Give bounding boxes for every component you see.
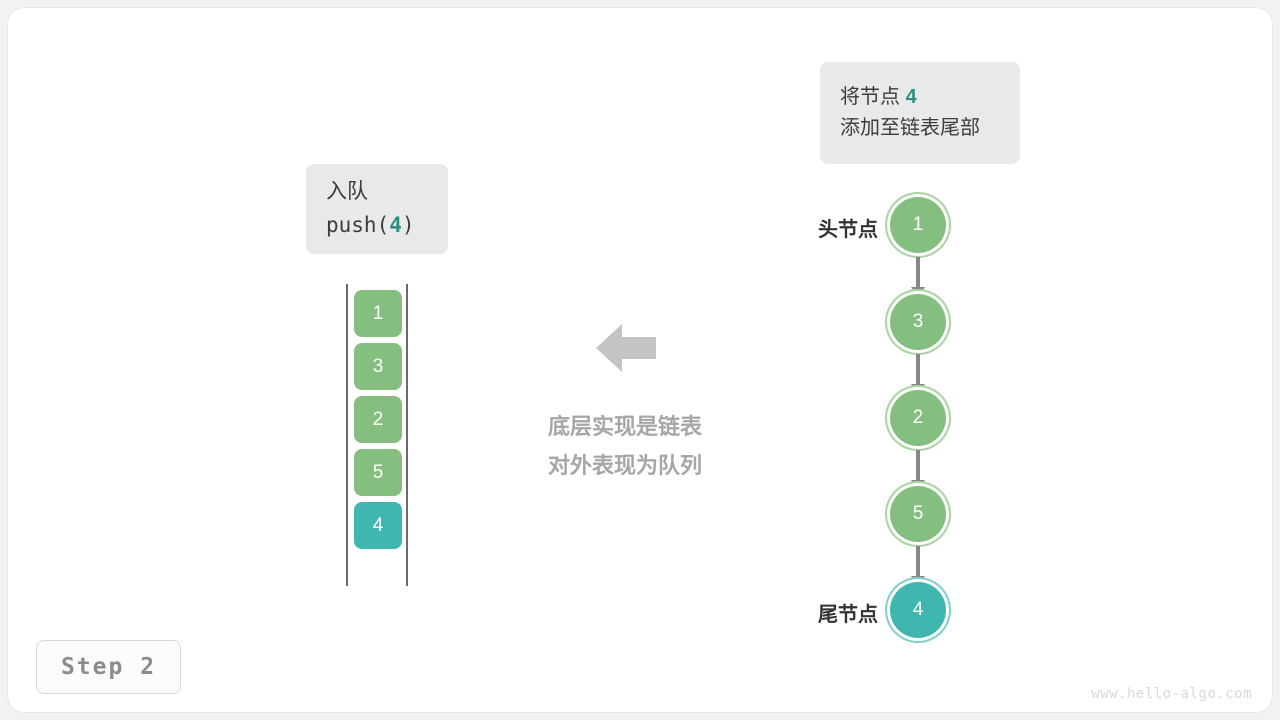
tail-node-label: 尾节点 (778, 598, 878, 627)
list-node: 5 (890, 486, 946, 542)
node-connector-line (916, 257, 920, 291)
diagram-canvas: 入队 push(4) 将节点 4 添加至链表尾部 1 3 2 5 4 底层实现是… (0, 0, 1280, 720)
list-node: 1 (890, 197, 946, 253)
queue-cell: 3 (354, 343, 402, 390)
step-badge: Step 2 (36, 640, 181, 694)
tail-callout-value: 4 (906, 86, 917, 108)
tail-callout-line2: 添加至链表尾部 (840, 113, 1000, 144)
list-node-new: 4 (890, 582, 946, 638)
node-connector-line (916, 354, 920, 388)
watermark: www.hello-algo.com (1091, 686, 1252, 702)
push-callout-line1: 入队 (326, 176, 428, 209)
push-call-suffix: ) (402, 213, 415, 237)
node-connector-line (916, 546, 920, 580)
arrow-left-icon (596, 322, 656, 374)
queue-rail-right (406, 284, 408, 586)
push-call-value: 4 (389, 213, 402, 237)
append-tail-callout: 将节点 4 添加至链表尾部 (820, 62, 1020, 164)
queue-rail-left (346, 284, 348, 586)
queue-column: 1 3 2 5 4 (346, 284, 408, 586)
push-callout-line2: push(4) (326, 209, 428, 242)
head-node-label: 头节点 (778, 213, 878, 242)
caption-line2: 对外表现为队列 (500, 447, 750, 486)
queue-cell: 1 (354, 290, 402, 337)
list-node: 2 (890, 390, 946, 446)
push-operation-callout: 入队 push(4) (306, 164, 448, 254)
queue-cell: 5 (354, 449, 402, 496)
list-node: 3 (890, 294, 946, 350)
linked-list-diagram: 头节点 尾节点 1 3 2 5 4 (770, 185, 1000, 655)
tail-callout-prefix: 将节点 (840, 86, 906, 108)
center-caption: 底层实现是链表 对外表现为队列 (500, 408, 750, 485)
caption-line1: 底层实现是链表 (500, 408, 750, 447)
push-call-prefix: push( (326, 213, 389, 237)
tail-callout-line1: 将节点 4 (840, 82, 1000, 113)
queue-cell-new: 4 (354, 502, 402, 549)
node-connector-line (916, 450, 920, 484)
queue-cell: 2 (354, 396, 402, 443)
